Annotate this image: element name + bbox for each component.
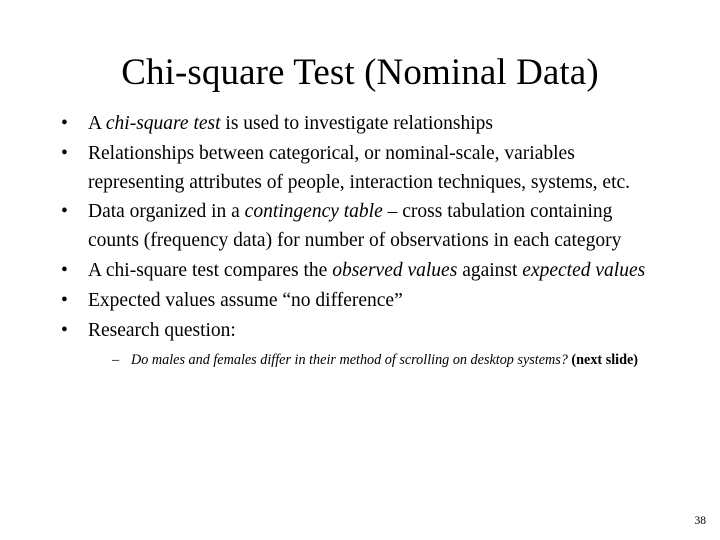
bullet-item: • Research question: (55, 317, 655, 346)
bullet-text: Data organized in a contingency table – … (88, 198, 655, 256)
bullet-text: Research question: (88, 317, 655, 346)
presentation-slide: Chi-square Test (Nominal Data) • A chi-s… (0, 0, 720, 540)
bullet-segment: A chi-square test compares the (88, 260, 332, 281)
sub-bullet-text: Do males and females differ in their met… (131, 350, 655, 371)
bullet-marker-icon: • (61, 317, 68, 346)
bullet-text: Expected values assume “no difference” (88, 287, 655, 316)
bullet-segment: Research question: (88, 320, 236, 341)
bullet-text: A chi-square test compares the observed … (88, 257, 655, 286)
sub-bullet-marker-icon: – (112, 350, 119, 371)
slide-page-number: 38 (695, 514, 707, 528)
bullet-text: Relationships between categorical, or no… (88, 140, 655, 198)
bullet-item: • Relationships between categorical, or … (55, 140, 655, 198)
bullet-marker-icon: • (61, 140, 68, 169)
bullet-segment-emphasis: observed values (332, 260, 457, 281)
slide-body-content: • A chi-square test is used to investiga… (55, 110, 655, 371)
sub-bullet-item: – Do males and females differ in their m… (55, 350, 655, 371)
bullet-marker-icon: • (61, 110, 68, 139)
bullet-segment: is used to investigate relationships (221, 113, 493, 134)
bullet-marker-icon: • (61, 257, 68, 286)
bullet-segment-emphasis: chi-square test (106, 113, 221, 134)
sub-bullet-segment-italic: Do males and females differ in their met… (131, 352, 568, 368)
bullet-segment: against (457, 260, 522, 281)
bullet-segment: A (88, 113, 106, 134)
sub-bullet-segment-note: (next slide) (568, 352, 638, 368)
bullet-item: • A chi-square test compares the observe… (55, 257, 655, 286)
bullet-text: A chi-square test is used to investigate… (88, 110, 655, 139)
slide-title: Chi-square Test (Nominal Data) (0, 51, 720, 95)
bullet-marker-icon: • (61, 198, 68, 227)
bullet-marker-icon: • (61, 287, 68, 316)
bullet-segment: Data organized in a (88, 201, 245, 222)
bullet-item: • Data organized in a contingency table … (55, 198, 655, 256)
bullet-item: • A chi-square test is used to investiga… (55, 110, 655, 139)
bullet-segment: Relationships between categorical, or no… (88, 143, 630, 193)
bullet-segment-emphasis: contingency table (245, 201, 383, 222)
bullet-item: • Expected values assume “no difference” (55, 287, 655, 316)
bullet-segment: Expected values assume “no difference” (88, 290, 403, 311)
bullet-segment-emphasis: expected values (522, 260, 645, 281)
